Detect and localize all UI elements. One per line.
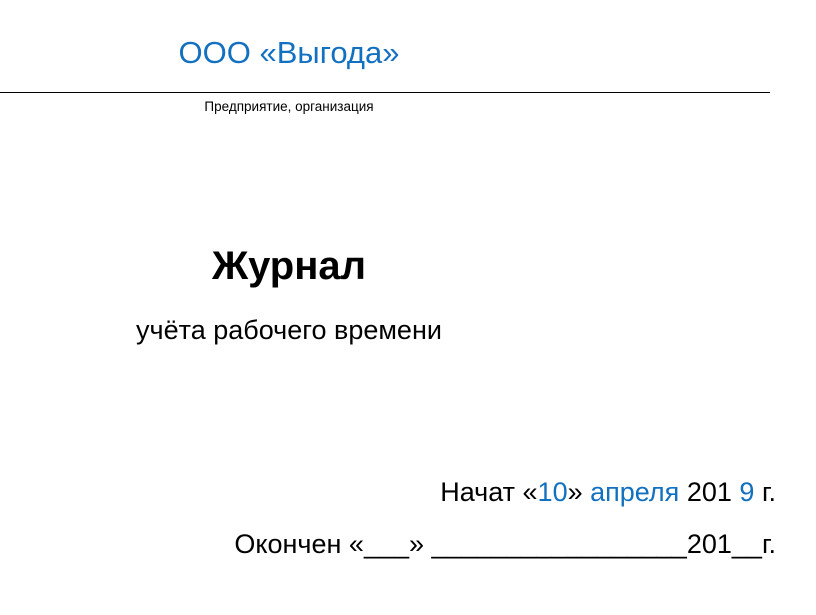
date-started-day: 10 [538, 477, 568, 507]
document-title: Журнал [0, 241, 578, 291]
date-started-year-prefix: 201 [687, 477, 732, 507]
date-finished-quote-close: » [409, 529, 424, 559]
date-started-label: Начат [440, 477, 515, 507]
date-finished-line: Окончен «___» _________________201__г. [0, 526, 776, 562]
date-finished-year-prefix: 201 [687, 529, 732, 559]
date-started-quote-close: » [568, 477, 583, 507]
date-finished-day-blank: ___ [364, 529, 409, 559]
organization-name: ООО «Выгода» [0, 34, 578, 72]
date-started-year-suffix: г. [762, 477, 776, 507]
date-finished-year-suffix: г. [762, 529, 776, 559]
date-started-month: апреля [590, 477, 679, 507]
organization-caption: Предприятие, организация [0, 98, 578, 116]
date-started-year-digit: 9 [739, 477, 754, 507]
date-started-quote-open: « [523, 477, 538, 507]
date-started-line: Начат «10» апреля 201 9 г. [0, 474, 776, 510]
date-finished-month-blank: _________________ [432, 529, 687, 559]
date-finished-label: Окончен [234, 529, 341, 559]
document-subtitle: учёта рабочего времени [0, 311, 578, 349]
date-finished-year-blank: __ [732, 529, 762, 559]
date-finished-quote-open: « [349, 529, 364, 559]
document-page: ООО «Выгода» Предприятие, организация Жу… [0, 0, 816, 615]
header-divider [0, 92, 770, 93]
